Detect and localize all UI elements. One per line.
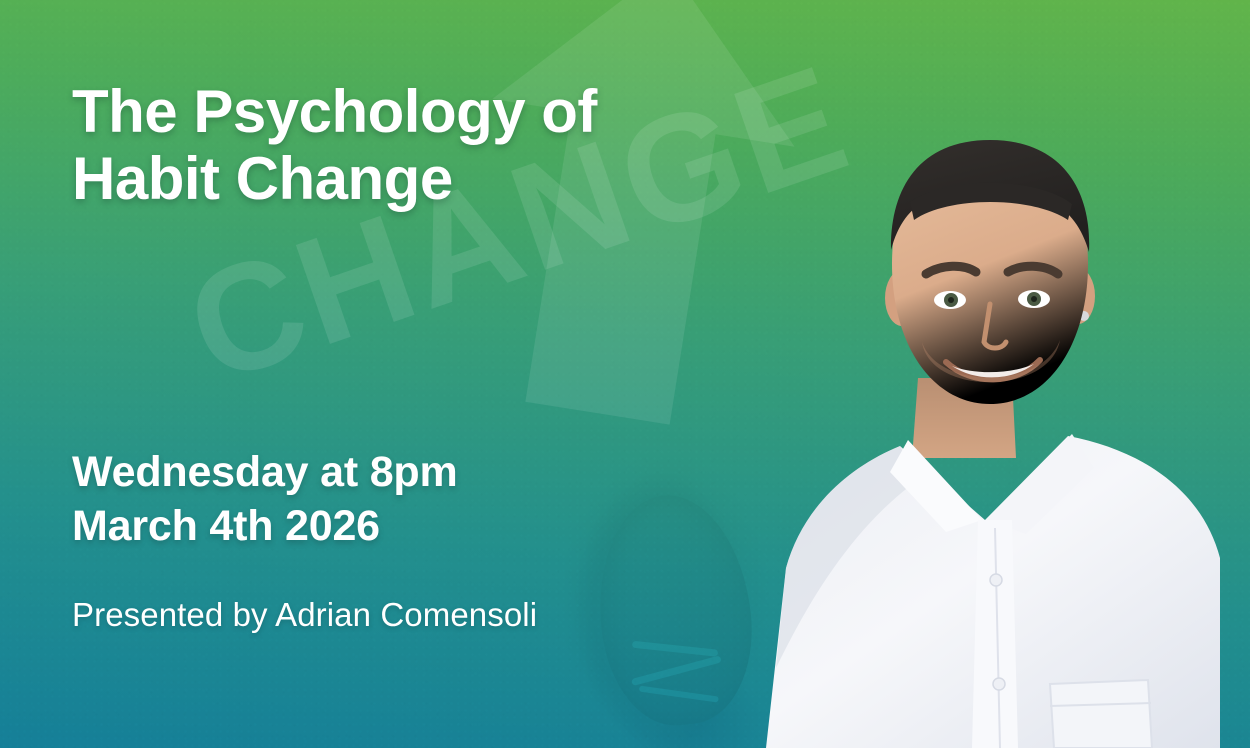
headline-line-2: Habit Change [72,145,732,212]
event-time: Wednesday at 8pm [72,446,458,500]
presenter-credit: Presented by Adrian Comensoli [72,596,537,634]
event-date: March 4th 2026 [72,500,458,554]
event-schedule: Wednesday at 8pm March 4th 2026 [72,446,458,554]
headline-line-1: The Psychology of [72,78,732,145]
promo-poster: CHANGE [0,0,1250,748]
page-title: The Psychology of Habit Change [72,78,732,212]
copy-block: The Psychology of Habit Change Wednesday… [72,0,772,748]
